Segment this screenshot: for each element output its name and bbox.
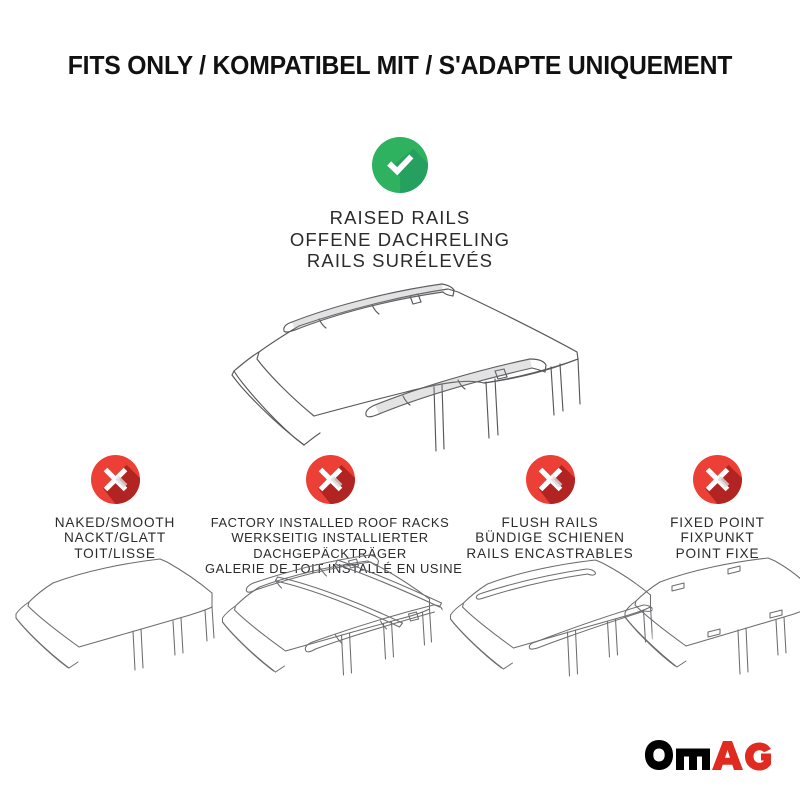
car-roof-factory-roof-racks-illustration xyxy=(218,547,443,677)
incompatible-label-de-1: WERKSEITIG INSTALLIERTER xyxy=(205,530,455,545)
cross-circle-icon xyxy=(526,455,575,504)
cross-circle-icon xyxy=(306,455,355,504)
compatible-label-fr: RAILS SURÉLEVÉS xyxy=(0,250,800,272)
compatible-caption: RAISED RAILS OFFENE DACHRELING RAILS SUR… xyxy=(0,207,800,272)
compatible-label-en: RAISED RAILS xyxy=(0,207,800,229)
car-roof-naked-smooth-illustration xyxy=(15,555,215,677)
compatible-label-de: OFFENE DACHRELING xyxy=(0,229,800,251)
incompatible-section: NAKED/SMOOTH NACKT/GLATT TOIT/LISSE xyxy=(0,455,800,695)
incompatible-item-fixed-point: FIXED POINT FIXPUNKT POINT FIXE xyxy=(635,455,800,561)
omac-logo xyxy=(644,738,772,774)
cross-circle-icon xyxy=(91,455,140,504)
incompatible-label-de: FIXPUNKT xyxy=(635,530,800,545)
incompatible-label-en: FIXED POINT xyxy=(635,515,800,530)
cross-circle-icon xyxy=(693,455,742,504)
compatible-section: RAISED RAILS OFFENE DACHRELING RAILS SUR… xyxy=(0,137,800,272)
incompatible-label-de: BÜNDIGE SCHIENEN xyxy=(445,530,655,545)
page-title: FITS ONLY / KOMPATIBEL MIT / S'ADAPTE UN… xyxy=(12,52,788,81)
incompatible-label-en: FLUSH RAILS xyxy=(445,515,655,530)
car-roof-flush-rails-illustration xyxy=(448,552,653,678)
car-roof-fixed-point-illustration xyxy=(624,552,800,678)
incompatible-item-factory-roof-racks: FACTORY INSTALLED ROOF RACKS WERKSEITIG … xyxy=(205,455,455,577)
incompatible-label-de: NACKT/GLATT xyxy=(5,530,225,545)
car-roof-raised-rails-illustration xyxy=(196,283,608,455)
incompatible-item-flush-rails: FLUSH RAILS BÜNDIGE SCHIENEN RAILS ENCAS… xyxy=(445,455,655,561)
incompatible-label-en: NAKED/SMOOTH xyxy=(5,515,225,530)
incompatible-item-naked-smooth: NAKED/SMOOTH NACKT/GLATT TOIT/LISSE xyxy=(5,455,225,561)
header: FITS ONLY / KOMPATIBEL MIT / S'ADAPTE UN… xyxy=(0,52,800,81)
incompatible-label-en: FACTORY INSTALLED ROOF RACKS xyxy=(205,515,455,530)
check-circle-icon xyxy=(372,137,428,193)
